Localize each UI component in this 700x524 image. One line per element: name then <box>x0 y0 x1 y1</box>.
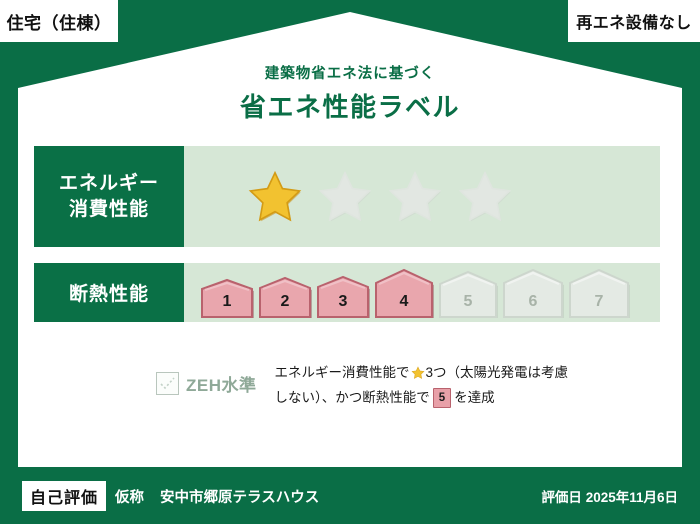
title-subtitle: 建築物省エネ法に基づく <box>0 62 700 83</box>
zeh-mark: ZEH水準 <box>156 371 257 396</box>
page-title: 建築物省エネ法に基づく 省エネ性能ラベル <box>0 62 700 124</box>
star-empty-icon <box>456 169 514 225</box>
insulation-performance-label-text: 断熱性能 <box>69 279 149 306</box>
title-main: 省エネ性能ラベル <box>0 87 700 124</box>
energy-performance-row: エネルギー 消費性能 <box>34 146 660 247</box>
self-evaluation-badge: 自己評価 <box>22 481 106 511</box>
building-name: 安中市郷原テラスハウス <box>160 486 319 507</box>
star-empty-icon <box>316 169 374 225</box>
insulation-level-badge: 5 <box>433 388 451 409</box>
building-type-tag-label: 住宅（住棟） <box>7 9 112 34</box>
insulation-level-scale: 1234567 <box>200 268 630 318</box>
description-line1-pre: エネルギー消費性能で <box>275 365 410 380</box>
insulation-performance-row: 断熱性能 1234567 <box>34 263 660 322</box>
renewable-energy-tag-label: 再エネ設備なし <box>576 9 692 33</box>
energy-performance-label-line2: 消費性能 <box>69 197 149 222</box>
description-line2-post: を達成 <box>454 390 495 405</box>
house-shape-icon <box>568 268 630 318</box>
house-shape-icon <box>258 276 312 318</box>
inline-star-icon <box>411 365 425 387</box>
star-empty-icon <box>386 169 444 225</box>
energy-performance-content <box>184 146 660 247</box>
insulation-level-6: 6 <box>502 268 564 318</box>
house-shape-icon <box>438 270 498 318</box>
star-rating <box>246 169 514 225</box>
achievement-description: エネルギー消費性能で3つ（太陽光発電は考慮しない）、かつ断熱性能で5を達成 <box>275 362 575 409</box>
insulation-level-3: 3 <box>316 275 370 318</box>
star-filled-icon <box>246 169 304 225</box>
building-type-tag: 住宅（住棟） <box>0 0 118 42</box>
insulation-performance-content: 1234567 <box>184 263 660 322</box>
house-shape-icon <box>374 268 434 318</box>
house-shape-icon <box>200 278 254 318</box>
zeh-check-glyph <box>157 373 178 394</box>
evaluation-date: 評価日 2025年11月6日 <box>541 486 678 506</box>
footer-bar: 自己評価 仮称 安中市郷原テラスハウス 評価日 2025年11月6日 <box>0 468 700 524</box>
zeh-check-icon <box>156 372 179 395</box>
energy-performance-label-line1: エネルギー <box>59 171 159 196</box>
description-line1-post: 3つ（太陽光発電 <box>426 365 528 380</box>
energy-performance-label: 住宅（住棟） 再エネ設備なし 建築物省エネ法に基づく 省エネ性能ラベル エネルギ… <box>0 0 700 524</box>
insulation-level-1: 1 <box>200 278 254 318</box>
insulation-performance-label: 断熱性能 <box>34 263 184 322</box>
energy-performance-label: エネルギー 消費性能 <box>34 146 184 247</box>
insulation-level-4: 4 <box>374 268 434 318</box>
provisional-name-label: 仮称 <box>115 486 144 507</box>
insulation-level-7: 7 <box>568 268 630 318</box>
house-shape-icon <box>502 268 564 318</box>
house-shape-icon <box>316 275 370 318</box>
zeh-label: ZEH水準 <box>186 371 257 396</box>
insulation-level-5: 5 <box>438 270 498 318</box>
renewable-energy-tag: 再エネ設備なし <box>568 0 700 42</box>
zeh-description-block: ZEH水準 エネルギー消費性能で3つ（太陽光発電は考慮しない）、かつ断熱性能で5… <box>34 362 660 409</box>
insulation-level-2: 2 <box>258 276 312 318</box>
